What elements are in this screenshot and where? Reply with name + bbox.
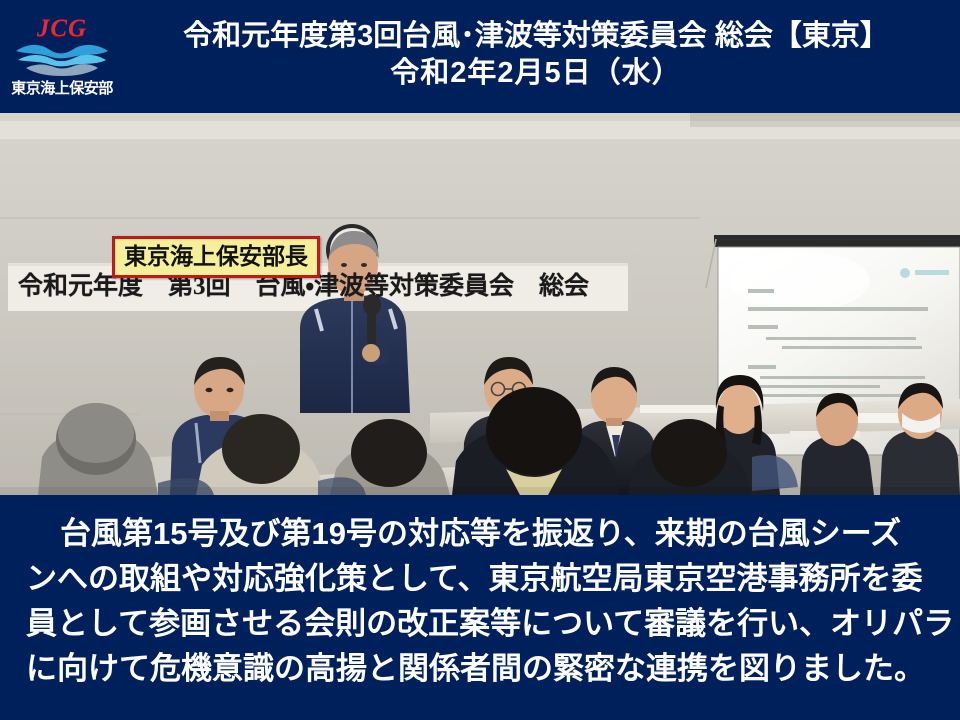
meeting-photo: 令和元年度 第3回 台風・津波等対策委員会 総会 [0,113,960,495]
caption-bar: 台風第15号及び第19号の対応等を振返り、来期の台風シーズ ンへの取組や対応強化… [0,495,960,720]
meeting-photo-illustration [0,113,960,495]
logo-mark: JCG [6,16,118,78]
waves-icon [14,41,110,78]
caption-line-1: 台風第15号及び第19号の対応等を振返り、来期の台風シーズ [26,511,934,556]
caption-line-3: 員として参画させる会則の改正案等について審議を行い、オリパラ [26,601,934,646]
callout-label-chief: 東京海上保安部長 [112,236,320,278]
caption-line-2: ンへの取組や対応強化策として、東京航空局東京空港事務所を委 [26,556,934,601]
header-title-group: 令和元年度第3回台風･津波等対策委員会 総会【東京】 令和2年2月5日（水） [118,18,954,92]
caption-line-4: に向けて危機意識の高揚と関係者間の緊密な連携を図りました。 [26,646,934,691]
logo-org-name: 東京海上保安部 [6,80,118,98]
jcg-logo: JCG 東京海上保安部 [6,16,118,106]
page-title: 令和元年度第3回台風･津波等対策委員会 総会【東京】 [118,18,954,55]
caption-text-block: 台風第15号及び第19号の対応等を振返り、来期の台風シーズ ンへの取組や対応強化… [0,495,960,691]
slide-root: JCG 東京海上保安部 令和元年度第3回台風･津波等対策委員会 総会【東京】 令… [0,0,960,720]
header-bar: JCG 東京海上保安部 令和元年度第3回台風･津波等対策委員会 総会【東京】 令… [0,0,960,113]
jcg-wordmark-icon: JCG [6,16,118,42]
page-subtitle-date: 令和2年2月5日（水） [118,55,954,92]
